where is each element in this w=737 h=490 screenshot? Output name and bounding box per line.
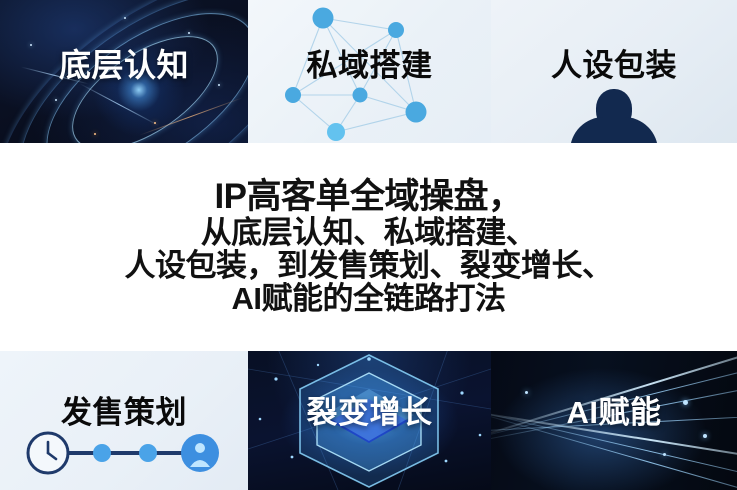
headline-line-2: 从底层认知、私域搭建、	[201, 217, 537, 250]
star-dot-icon	[55, 99, 57, 101]
headline-line-1: IP高客单全域操盘，	[214, 178, 522, 215]
panel-label-fission-growth: 裂变增长	[248, 387, 491, 432]
panel-fission-growth[interactable]: 裂变增长	[248, 349, 491, 490]
star-dot-icon	[154, 122, 156, 124]
headline-band: IP高客单全域操盘， 从底层认知、私域搭建、 人设包装，到发售策划、裂变增长、 …	[0, 143, 737, 351]
person-silhouette-icon	[570, 89, 658, 145]
panel-persona-packaging[interactable]: 人设包装	[491, 0, 737, 145]
panel-label-persona-packaging: 人设包装	[491, 40, 737, 85]
panel-label-ai-empowerment: AI赋能	[491, 387, 737, 432]
panel-launch-planning[interactable]: 发售策划	[0, 349, 248, 490]
panel-ai-empowerment[interactable]: AI赋能	[491, 349, 737, 490]
glow-dot-icon	[703, 434, 707, 438]
panel-private-domain[interactable]: 私域搭建	[248, 0, 491, 145]
poster-canvas: 底层认知	[0, 0, 737, 490]
panel-label-cognition: 底层认知	[0, 40, 248, 86]
panel-cognition[interactable]: 底层认知	[0, 0, 248, 145]
bottom-panel-row: 发售策划	[0, 349, 737, 490]
headline-line-4: AI赋能的全链路打法	[232, 283, 506, 316]
top-panel-row: 底层认知	[0, 0, 737, 145]
headline-line-3: 人设包装，到发售策划、裂变增长、	[125, 250, 613, 283]
glow-dot-icon	[663, 453, 666, 456]
panel-label-launch-planning: 发售策划	[0, 387, 248, 432]
panel-label-private-domain: 私域搭建	[248, 40, 491, 85]
